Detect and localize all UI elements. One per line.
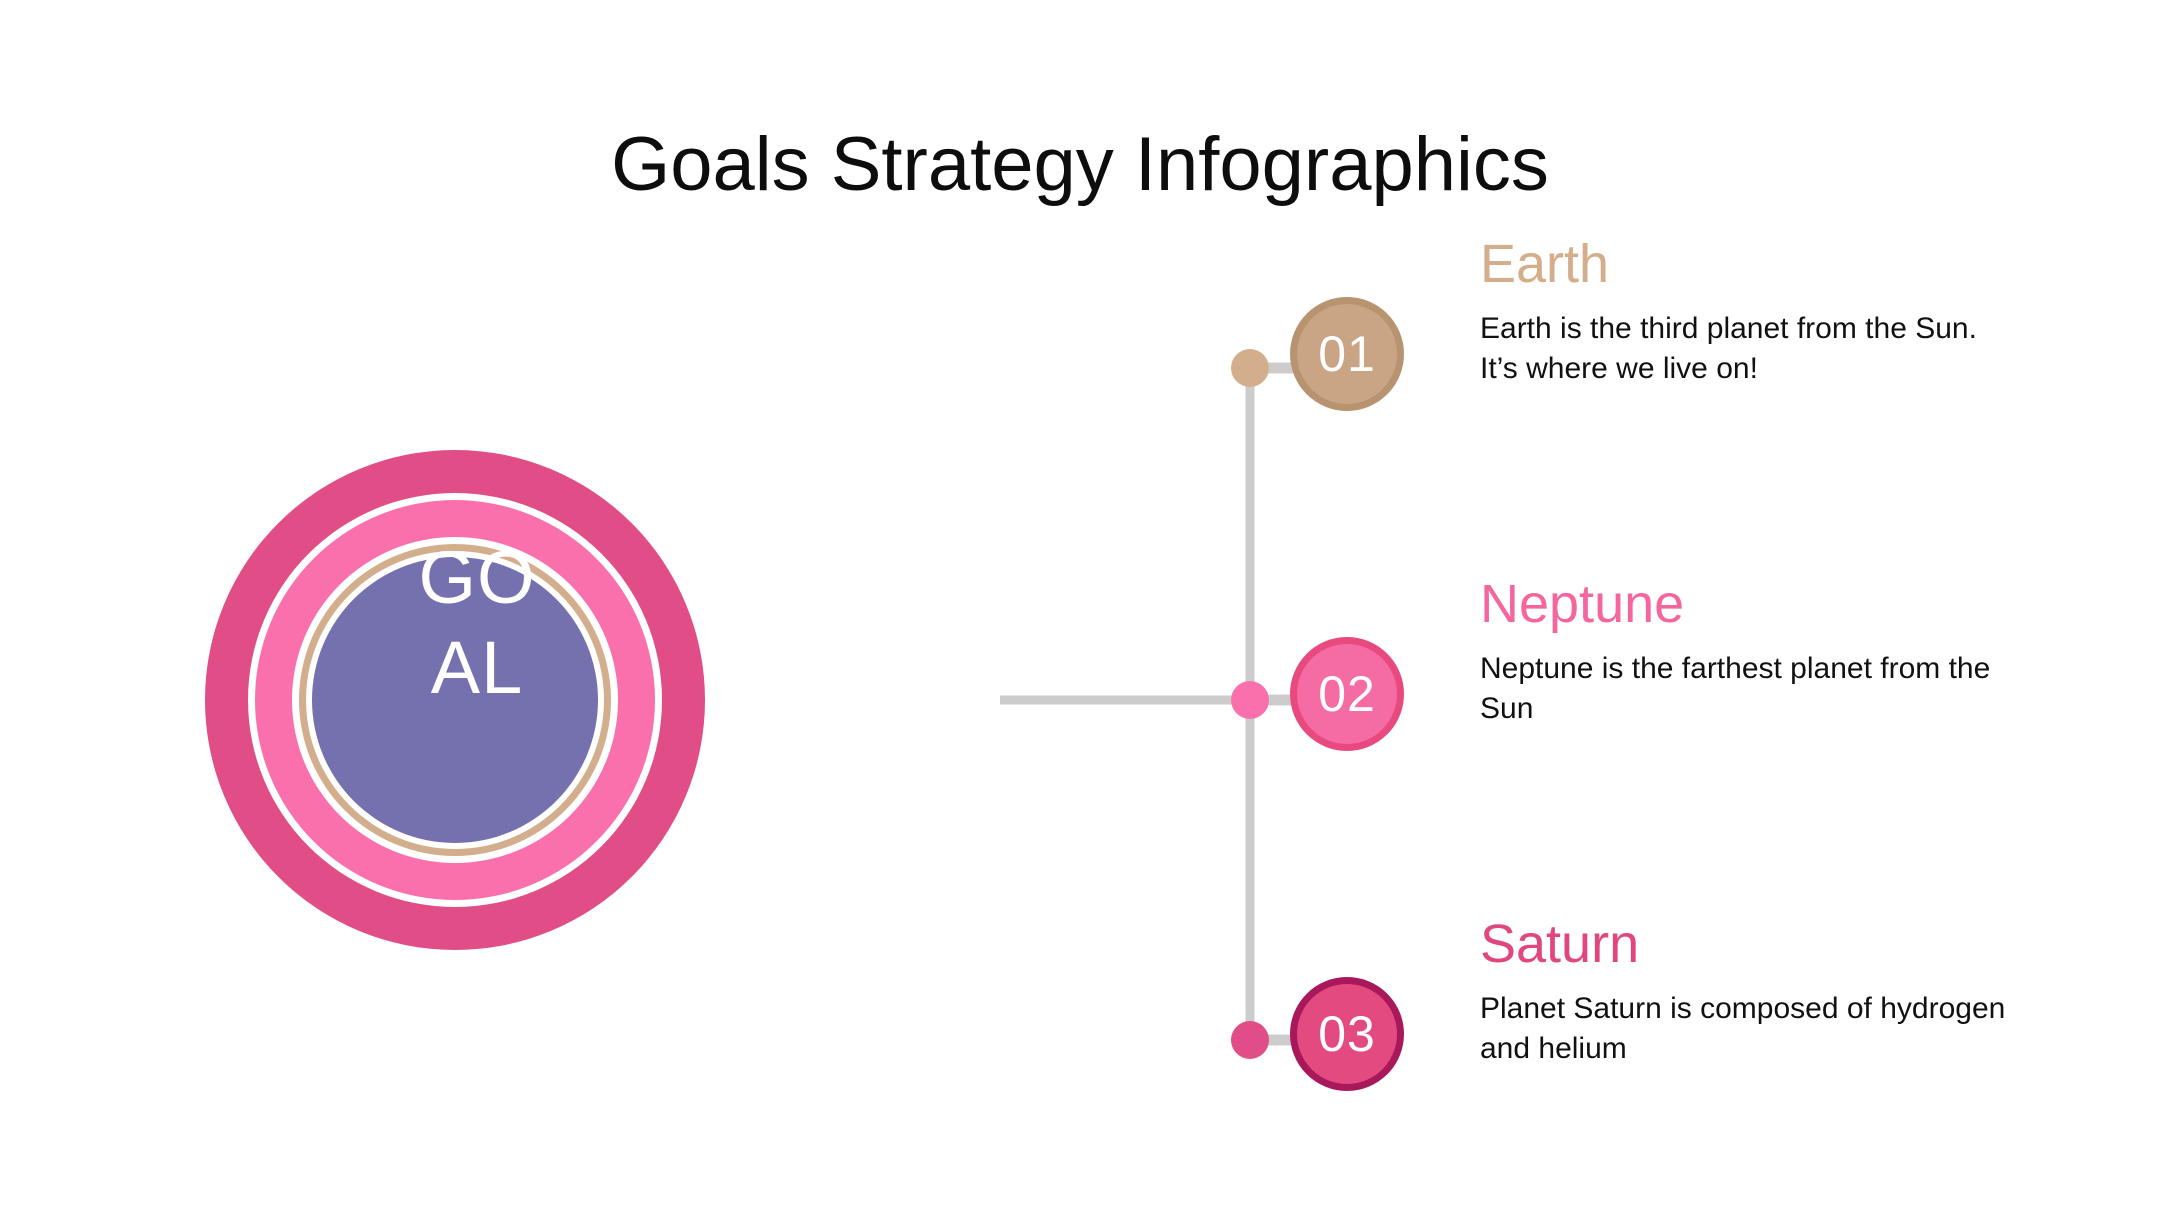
item-text-earth: Earth Earth is the third planet from the… [1480,235,2010,389]
badge-number-label: 03 [1318,1005,1376,1063]
item-description-saturn: Planet Saturn is composed of hydrogen an… [1480,989,2010,1069]
item-text-neptune: Neptune Neptune is the farthest planet f… [1480,575,2010,729]
badge-number-02: 02 [1290,637,1404,751]
item-text-saturn: Saturn Planet Saturn is composed of hydr… [1480,915,2010,1069]
badge-number-label: 01 [1318,325,1376,383]
goal-core-circle [312,557,598,843]
goal-ring-diagram [205,313,980,1088]
goal-rings-svg [205,313,980,1088]
badge-number-label: 02 [1318,665,1376,723]
item-heading-saturn: Saturn [1480,915,2010,973]
item-description-neptune: Neptune is the farthest planet from the … [1480,649,2010,729]
dot-saturn-icon [1231,1021,1269,1059]
page-title: Goals Strategy Infographics [0,123,2160,207]
item-description-earth: Earth is the third planet from the Sun. … [1480,309,2010,389]
badge-number-01: 01 [1290,297,1404,411]
badge-number-03: 03 [1290,977,1404,1091]
item-heading-earth: Earth [1480,235,2010,293]
dot-earth-icon [1231,349,1269,387]
dot-neptune-icon [1231,681,1269,719]
infographic-slide: Goals Strategy Infographics GO AL [0,0,2160,1215]
item-heading-neptune: Neptune [1480,575,2010,633]
